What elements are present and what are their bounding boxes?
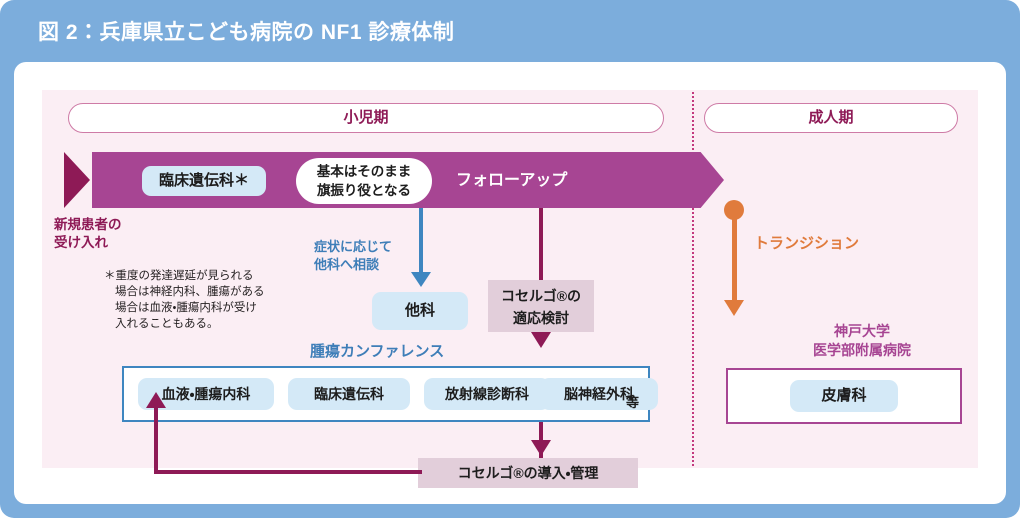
return-path-vertical: [154, 406, 158, 472]
box-koselugo-indication-review-line2: 適応検討: [488, 307, 594, 329]
label-new-patient-intake-line1: 新規患者の: [54, 216, 122, 234]
arrow-koselugo-management-head: [531, 440, 551, 456]
transition-arrow-head: [724, 300, 744, 316]
footnote-text: ＊重度の発達遅延が見られる 場合は神経内科、腫瘍がある 場合は血液・腫瘍内科が受…: [104, 268, 324, 332]
note-consult-other-department-line1: 症状に応じて: [314, 238, 392, 256]
chip-clinical-genetics: 臨床遺伝科＊: [142, 166, 266, 196]
chip-other-department: 他科: [372, 292, 468, 330]
timeline-band-arrowhead-left: [64, 152, 90, 208]
transition-arrow-line: [732, 216, 737, 304]
label-followup: フォローアップ: [456, 166, 567, 196]
label-new-patient-intake: 新規患者の 受け入れ: [54, 216, 122, 252]
label-kobe-university-hospital-line2: 医学部附属病院: [742, 341, 982, 360]
timeline-band: 臨床遺伝科＊ 基本はそのまま 旗振り役となる フォローアップ: [64, 152, 724, 208]
chip-neurosurgery: 脳神経外科: [540, 378, 658, 410]
label-new-patient-intake-line2: 受け入れ: [54, 234, 122, 252]
label-kobe-university-hospital: 神戸大学 医学部附属病院: [742, 322, 982, 360]
box-koselugo-introduction-management: コセルゴ®の導入・管理: [418, 458, 638, 488]
note-flagbearer-role: 基本はそのまま 旗振り役となる: [296, 158, 432, 204]
arrow-to-other-department-head: [411, 272, 431, 287]
note-consult-other-department-line2: 他科へ相談: [314, 256, 392, 274]
diagram-panel: 小児期 成人期 臨床遺伝科＊ 基本はそのまま 旗振り役となる フォローアップ 新…: [42, 90, 978, 468]
box-koselugo-indication-review-line1: コセルゴ®の: [488, 285, 594, 307]
arrow-to-other-department-line: [419, 208, 423, 276]
chip-radiology: 放射線診断科: [424, 378, 550, 410]
chip-clinical-genetics-conf: 臨床遺伝科: [288, 378, 410, 410]
arrow-koselugo-review-head: [531, 332, 551, 348]
figure-root: 図 2：兵庫県立こども病院の NF1 診療体制 小児期 成人期 臨床遺伝科＊ 基…: [0, 0, 1020, 518]
footnote-line2: 場合は神経内科、腫瘍がある: [104, 284, 324, 300]
label-conference-etc: 等: [626, 392, 639, 411]
label-tumor-conference: 腫瘍カンファレンス: [310, 340, 444, 361]
chip-dermatology: 皮膚科: [790, 380, 898, 412]
footnote-line4: 入れることもある。: [104, 316, 324, 332]
label-transition: トランジション: [754, 232, 859, 253]
period-divider: [692, 92, 694, 466]
return-path-arrowhead: [146, 392, 166, 408]
figure-title: 図 2：兵庫県立こども病院の NF1 診療体制: [38, 16, 938, 50]
note-flagbearer-role-line2: 旗振り役となる: [296, 181, 432, 200]
figure-card: 小児期 成人期 臨床遺伝科＊ 基本はそのまま 旗振り役となる フォローアップ 新…: [14, 62, 1006, 504]
box-koselugo-indication-review: コセルゴ®の 適応検討: [488, 280, 594, 332]
footnote-line3: 場合は血液・腫瘍内科が受け: [104, 300, 324, 316]
note-flagbearer-role-line1: 基本はそのまま: [296, 162, 432, 181]
label-kobe-university-hospital-line1: 神戸大学: [742, 322, 982, 341]
period-pill-adulthood: 成人期: [704, 103, 958, 133]
note-consult-other-department: 症状に応じて 他科へ相談: [314, 238, 392, 274]
period-pill-childhood: 小児期: [68, 103, 664, 133]
return-path-horizontal: [154, 470, 422, 474]
footnote-line1: ＊重度の発達遅延が見られる: [104, 268, 324, 284]
